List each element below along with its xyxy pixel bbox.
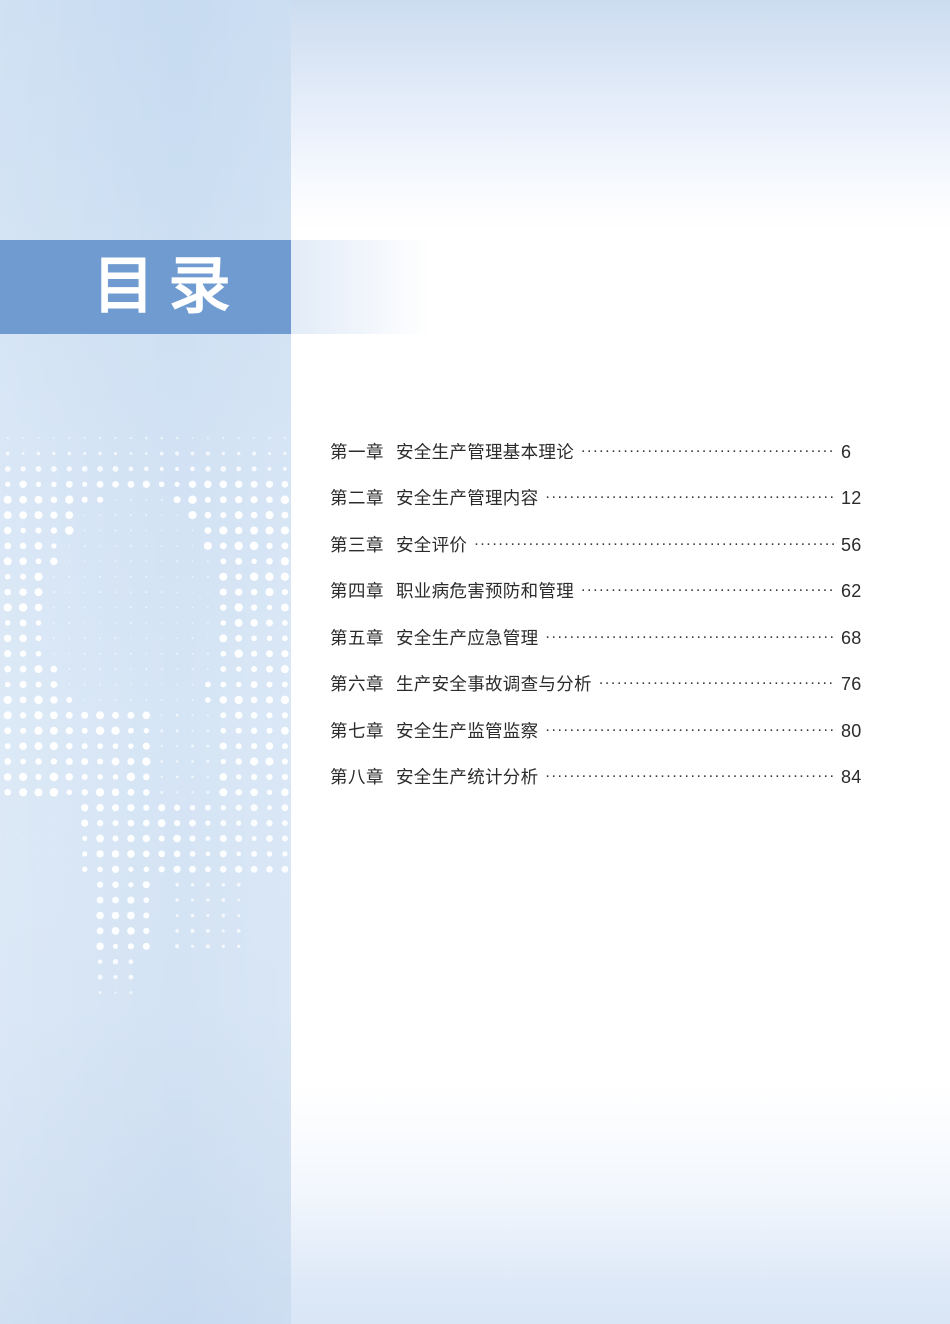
toc-leader-dots	[545, 487, 834, 505]
toc-chapter-label: 第四章	[330, 582, 384, 601]
toc-chapter-label: 第三章	[330, 536, 384, 555]
toc-page-number: 80	[841, 722, 875, 742]
background-gradient-bottom	[291, 1084, 950, 1324]
toc-page-number: 84	[841, 768, 875, 788]
toc-page: 目录 第一章安全生产管理基本理论6第二章安全生产管理内容12第三章安全评价56第…	[0, 0, 950, 1324]
toc-leader-dots	[581, 440, 834, 458]
toc-entry-title: 安全生产统计分析	[396, 768, 538, 787]
toc-chapter-label: 第二章	[330, 489, 384, 508]
halftone-world-map-icon	[0, 415, 291, 1015]
toc-page-number: 6	[841, 443, 875, 463]
toc-page-number: 62	[841, 582, 875, 602]
toc-leader-dots	[545, 626, 834, 644]
toc-entry[interactable]: 第五章安全生产应急管理68	[330, 626, 875, 673]
toc-entry[interactable]: 第七章安全生产监管监察80	[330, 719, 875, 766]
toc-entry-title: 生产安全事故调查与分析	[396, 675, 592, 694]
toc-entry[interactable]: 第八章安全生产统计分析84	[330, 766, 875, 813]
toc-page-number: 56	[841, 536, 875, 556]
page-title: 目录	[0, 240, 291, 334]
toc-chapter-label: 第六章	[330, 675, 384, 694]
toc-entry-title: 安全生产应急管理	[396, 629, 538, 648]
toc-leader-dots	[545, 719, 834, 737]
toc-entry[interactable]: 第一章安全生产管理基本理论6	[330, 440, 875, 487]
toc-page-number: 12	[841, 489, 875, 509]
toc-leader-dots	[581, 580, 834, 598]
toc-leader-dots	[545, 766, 834, 784]
toc-chapter-label: 第八章	[330, 768, 384, 787]
toc-entry-title: 安全生产管理基本理论	[396, 443, 574, 462]
toc-page-number: 76	[841, 675, 875, 695]
toc-leader-dots	[474, 533, 834, 551]
toc-page-number: 68	[841, 629, 875, 649]
toc-entry-title: 安全生产监管监察	[396, 722, 538, 741]
toc-entry[interactable]: 第三章安全评价56	[330, 533, 875, 580]
toc-entry[interactable]: 第六章生产安全事故调查与分析76	[330, 673, 875, 720]
toc-chapter-label: 第七章	[330, 722, 384, 741]
toc-leader-dots	[599, 673, 834, 691]
title-band-tail	[291, 240, 431, 334]
toc-entry[interactable]: 第二章安全生产管理内容12	[330, 487, 875, 534]
toc-entry-title: 安全评价	[396, 536, 467, 555]
toc-entry-title: 职业病危害预防和管理	[396, 582, 574, 601]
toc-list: 第一章安全生产管理基本理论6第二章安全生产管理内容12第三章安全评价56第四章职…	[330, 440, 875, 812]
toc-entry[interactable]: 第四章职业病危害预防和管理62	[330, 580, 875, 627]
toc-entry-title: 安全生产管理内容	[396, 489, 538, 508]
background-gradient-top	[291, 0, 950, 230]
toc-chapter-label: 第五章	[330, 629, 384, 648]
toc-chapter-label: 第一章	[330, 443, 384, 462]
